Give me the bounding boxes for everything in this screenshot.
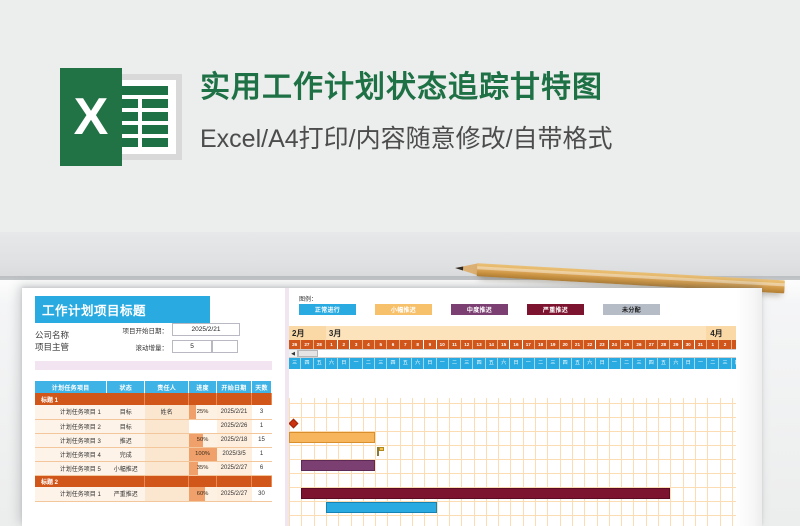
calendar-day-cell: 19 <box>547 340 559 349</box>
calendar-weekday-cell: 五 <box>314 358 326 369</box>
hero-subtitle: Excel/A4打印/内容随意修改/自带格式 <box>200 124 613 154</box>
table-row[interactable]: 计划任务项目 1 目标 姓名 25% 2025/2/21 3 <box>35 405 272 419</box>
calendar-weekday-cell: 三 <box>719 358 731 369</box>
cell-status: 推迟 <box>107 433 145 447</box>
scroll-increment-input[interactable]: 5 <box>172 340 212 353</box>
cell-task: 计划任务项目 4 <box>35 447 107 461</box>
calendar-day-cell: 18 <box>535 340 547 349</box>
gantt-bar-3[interactable] <box>301 460 375 471</box>
calendar-weekdays-row: 三四五六日一二三四五六日一二三四五六日一二三四五六日一二三四五六日一二三四 <box>289 358 762 369</box>
task-table-pane: 工作计划项目标题 公司名称 项目主管 项目开始日期： 2025/2/21 滚动增… <box>22 288 285 526</box>
calendar-weekday-cell: 三 <box>461 358 473 369</box>
cell-task: 计划任务项目 5 <box>35 461 107 475</box>
cell-task: 计划任务项目 1 <box>35 405 107 419</box>
task-group-header-row[interactable]: 标题 1 <box>35 393 272 405</box>
calendar-weekday-cell: 日 <box>683 358 695 369</box>
calendar-day-cell: 14 <box>486 340 498 349</box>
calendar-day-cell: 3 <box>350 340 362 349</box>
cell-owner <box>145 433 189 447</box>
calendar-day-cell: 28 <box>314 340 326 349</box>
task-table-body: 计划任务项目 状态 责任人 进度 开始日期 天数 标题 1 计划任务项目 1 目… <box>35 381 272 501</box>
calendar-day-cell: 27 <box>646 340 658 349</box>
scroll-increment-spare-cell[interactable] <box>212 340 238 353</box>
calendar-day-cell: 1 <box>707 340 719 349</box>
cell-owner <box>145 461 189 475</box>
table-row[interactable]: 计划任务项目 5 小幅推迟 35% 2025/2/27 6 <box>35 461 272 475</box>
legend: 正常进行小幅推迟中度推迟严重推迟未分配 <box>299 304 660 315</box>
progress-fill <box>189 405 196 419</box>
table-row[interactable]: 计划任务项目 2 目标 2025/2/26 1 <box>35 419 272 433</box>
calendar-weekday-cell: 三 <box>633 358 645 369</box>
cell-days: 1 <box>252 419 272 433</box>
gantt-gridline-h <box>289 417 762 418</box>
calendar-day-cell: 4 <box>363 340 375 349</box>
calendar-day-cell: 26 <box>633 340 645 349</box>
calendar-weekday-cell: 三 <box>547 358 559 369</box>
calendar-days-row: 2627281234567891011121314151617181920212… <box>289 340 762 349</box>
calendar-day-cell: 28 <box>658 340 670 349</box>
calendar-weekday-cell: 六 <box>498 358 510 369</box>
calendar-day-cell: 12 <box>461 340 473 349</box>
group-name-2: 标题 2 <box>35 475 145 487</box>
cell-progress: 35% <box>189 461 217 475</box>
scroll-increment-field-row: 滚动增量： 5 <box>118 340 238 353</box>
gantt-chart-grid[interactable] <box>289 398 762 526</box>
col-header-owner: 责任人 <box>145 381 189 393</box>
legend-item-2: 中度推迟 <box>451 304 508 315</box>
calendar-day-cell: 11 <box>449 340 461 349</box>
cell-start-date: 2025/2/27 <box>217 487 252 501</box>
calendar-months-row: 2月3月4月 <box>289 326 762 340</box>
col-header-progress: 进度 <box>189 381 217 393</box>
calendar-day-cell: 24 <box>609 340 621 349</box>
calendar-weekday-cell: 二 <box>363 358 375 369</box>
gantt-gridline-h <box>289 445 762 446</box>
calendar-day-cell: 2 <box>719 340 731 349</box>
start-date-label: 项目开始日期： <box>118 325 172 335</box>
calendar-weekday-cell: 日 <box>424 358 436 369</box>
progress-label: 35% <box>197 465 209 471</box>
calendar-weekday-cell: 四 <box>387 358 399 369</box>
gantt-bar-4[interactable] <box>301 488 670 499</box>
cell-progress: 100% <box>189 447 217 461</box>
group-name-1: 标题 1 <box>35 393 145 405</box>
cell-owner <box>145 487 189 501</box>
legend-item-1: 小幅推迟 <box>375 304 432 315</box>
col-header-task: 计划任务项目 <box>35 381 107 393</box>
calendar-weekday-cell: 六 <box>412 358 424 369</box>
cell-start-date: 2025/2/21 <box>217 405 252 419</box>
gantt-milestone-diamond-icon[interactable] <box>289 419 298 429</box>
cell-task: 计划任务项目 3 <box>35 433 107 447</box>
col-header-start-date: 开始日期 <box>217 381 252 393</box>
calendar-day-cell: 9 <box>424 340 436 349</box>
calendar-day-cell: 13 <box>473 340 485 349</box>
cell-progress: 60% <box>189 487 217 501</box>
calendar-day-cell: 30 <box>683 340 695 349</box>
table-row[interactable]: 计划任务项目 3 推迟 50% 2025/2/18 15 <box>35 433 272 447</box>
calendar-header: 2月3月4月 262728123456789101112131415161718… <box>289 326 762 369</box>
excel-logo-icon: X <box>60 68 186 166</box>
table-row[interactable]: 计划任务项目 4 完成 100% 2025/3/5 1 <box>35 447 272 461</box>
cell-status: 严重推迟 <box>107 487 145 501</box>
calendar-day-cell: 6 <box>387 340 399 349</box>
calendar-day-cell: 17 <box>523 340 535 349</box>
calendar-day-cell: 5 <box>375 340 387 349</box>
calendar-weekday-cell: 日 <box>338 358 350 369</box>
calendar-day-cell: 25 <box>621 340 633 349</box>
calendar-day-cell: 1 <box>326 340 338 349</box>
calendar-weekday-cell: 五 <box>400 358 412 369</box>
scroll-increment-label: 滚动增量： <box>118 342 172 352</box>
scroll-left-arrow-icon[interactable]: ◀ <box>289 350 298 357</box>
calendar-weekday-cell: 四 <box>473 358 485 369</box>
gantt-bar-5[interactable] <box>326 502 437 513</box>
calendar-day-cell: 15 <box>498 340 510 349</box>
calendar-weekday-cell: 一 <box>523 358 535 369</box>
gantt-gridline-h <box>289 403 762 404</box>
cell-task: 计划任务项目 2 <box>35 419 107 433</box>
start-date-field-row: 项目开始日期： 2025/2/21 <box>118 323 240 336</box>
cell-owner <box>145 419 189 433</box>
progress-label: 60% <box>197 491 209 497</box>
progress-label: 100% <box>195 451 210 457</box>
cell-task: 计划任务项目 1 <box>35 487 107 501</box>
col-header-days: 天数 <box>252 381 272 393</box>
cell-owner <box>145 447 189 461</box>
calendar-weekday-cell: 四 <box>646 358 658 369</box>
gantt-pane: 图例： 正常进行小幅推迟中度推迟严重推迟未分配 2月3月4月 262728123… <box>285 288 762 526</box>
calendar-weekday-cell: 四 <box>301 358 313 369</box>
calendar-day-cell: 16 <box>510 340 522 349</box>
cell-days: 3 <box>252 405 272 419</box>
cell-start-date: 2025/2/27 <box>217 461 252 475</box>
calendar-weekday-cell: 一 <box>350 358 362 369</box>
task-table: 计划任务项目 状态 责任人 进度 开始日期 天数 标题 1 计划任务项目 1 目… <box>35 381 272 502</box>
task-table-header-row: 计划任务项目 状态 责任人 进度 开始日期 天数 <box>35 381 272 393</box>
calendar-weekday-cell: 五 <box>572 358 584 369</box>
cell-days: 30 <box>252 487 272 501</box>
calendar-day-cell: 23 <box>596 340 608 349</box>
cell-days: 15 <box>252 433 272 447</box>
calendar-weekday-cell: 六 <box>584 358 596 369</box>
calendar-weekday-cell: 一 <box>609 358 621 369</box>
task-group-header-row[interactable]: 标题 2 <box>35 475 272 487</box>
progress-label: 50% <box>197 437 209 443</box>
calendar-month-3月: 3月 <box>326 326 707 340</box>
calendar-day-cell: 20 <box>560 340 572 349</box>
calendar-weekday-cell: 二 <box>621 358 633 369</box>
cell-status: 目标 <box>107 419 145 433</box>
calendar-weekday-cell: 一 <box>437 358 449 369</box>
cell-start-date: 2025/2/18 <box>217 433 252 447</box>
table-row[interactable]: 计划任务项目 1 严重推迟 60% 2025/2/27 30 <box>35 487 272 501</box>
gantt-horizontal-scrollbar[interactable]: ◀ <box>289 349 762 358</box>
calendar-weekday-cell: 六 <box>326 358 338 369</box>
col-header-status: 状态 <box>107 381 145 393</box>
cell-start-date: 2025/3/5 <box>217 447 252 461</box>
calendar-day-cell: 2 <box>338 340 350 349</box>
pencil-lead <box>455 266 463 270</box>
progress-label: 25% <box>197 409 209 415</box>
calendar-day-cell: 26 <box>289 340 301 349</box>
gantt-gridline-h <box>289 515 762 516</box>
legend-label: 图例： <box>299 294 317 303</box>
gantt-bar-1[interactable] <box>289 432 375 443</box>
calendar-weekday-cell: 三 <box>375 358 387 369</box>
calendar-day-cell: 10 <box>437 340 449 349</box>
calendar-day-cell: 21 <box>572 340 584 349</box>
calendar-weekday-cell: 一 <box>695 358 707 369</box>
start-date-input[interactable]: 2025/2/21 <box>172 323 240 336</box>
calendar-weekday-cell: 四 <box>560 358 572 369</box>
calendar-weekday-cell: 三 <box>289 358 301 369</box>
cell-status: 小幅推迟 <box>107 461 145 475</box>
calendar-day-cell: 7 <box>400 340 412 349</box>
calendar-day-cell: 8 <box>412 340 424 349</box>
calendar-weekday-cell: 日 <box>596 358 608 369</box>
legend-item-3: 严重推迟 <box>527 304 584 315</box>
gantt-milestone-flag-icon[interactable] <box>377 447 384 456</box>
cell-progress: 50% <box>189 433 217 447</box>
scrollbar-thumb[interactable] <box>298 350 318 357</box>
calendar-month-2月: 2月 <box>289 326 326 340</box>
calendar-day-cell: 31 <box>695 340 707 349</box>
spreadsheet-preview[interactable]: 工作计划项目标题 公司名称 项目主管 项目开始日期： 2025/2/21 滚动增… <box>22 288 762 526</box>
hero-title: 实用工作计划状态追踪甘特图 <box>200 70 613 106</box>
legend-item-0: 正常进行 <box>299 304 356 315</box>
svg-text:X: X <box>74 88 109 146</box>
calendar-weekday-cell: 六 <box>670 358 682 369</box>
calendar-weekday-cell: 五 <box>658 358 670 369</box>
calendar-day-cell: 27 <box>301 340 313 349</box>
hero-text-block: 实用工作计划状态追踪甘特图 Excel/A4打印/内容随意修改/自带格式 <box>200 70 613 154</box>
sheet-right-margin <box>736 288 762 526</box>
cell-start-date: 2025/2/26 <box>217 419 252 433</box>
calendar-weekday-cell: 五 <box>486 358 498 369</box>
project-title-banner[interactable]: 工作计划项目标题 <box>35 296 210 323</box>
flag-cloth <box>379 447 384 451</box>
calendar-weekday-cell: 二 <box>449 358 461 369</box>
cell-days: 1 <box>252 447 272 461</box>
cell-progress: 25% <box>189 405 217 419</box>
cell-owner: 姓名 <box>145 405 189 419</box>
legend-item-4: 未分配 <box>603 304 660 315</box>
calendar-day-cell: 22 <box>584 340 596 349</box>
calendar-day-cell: 29 <box>670 340 682 349</box>
cell-status: 目标 <box>107 405 145 419</box>
cell-status: 完成 <box>107 447 145 461</box>
calendar-weekday-cell: 日 <box>510 358 522 369</box>
separator-band <box>35 361 272 370</box>
hero-banner: X 实用工作计划状态追踪甘特图 Excel/A4打印/内容随意修改/自带格式 <box>0 0 800 232</box>
cell-days: 6 <box>252 461 272 475</box>
calendar-weekday-cell: 二 <box>535 358 547 369</box>
calendar-weekday-cell: 二 <box>707 358 719 369</box>
gantt-gridline-h <box>289 473 762 474</box>
cell-progress <box>189 419 217 433</box>
